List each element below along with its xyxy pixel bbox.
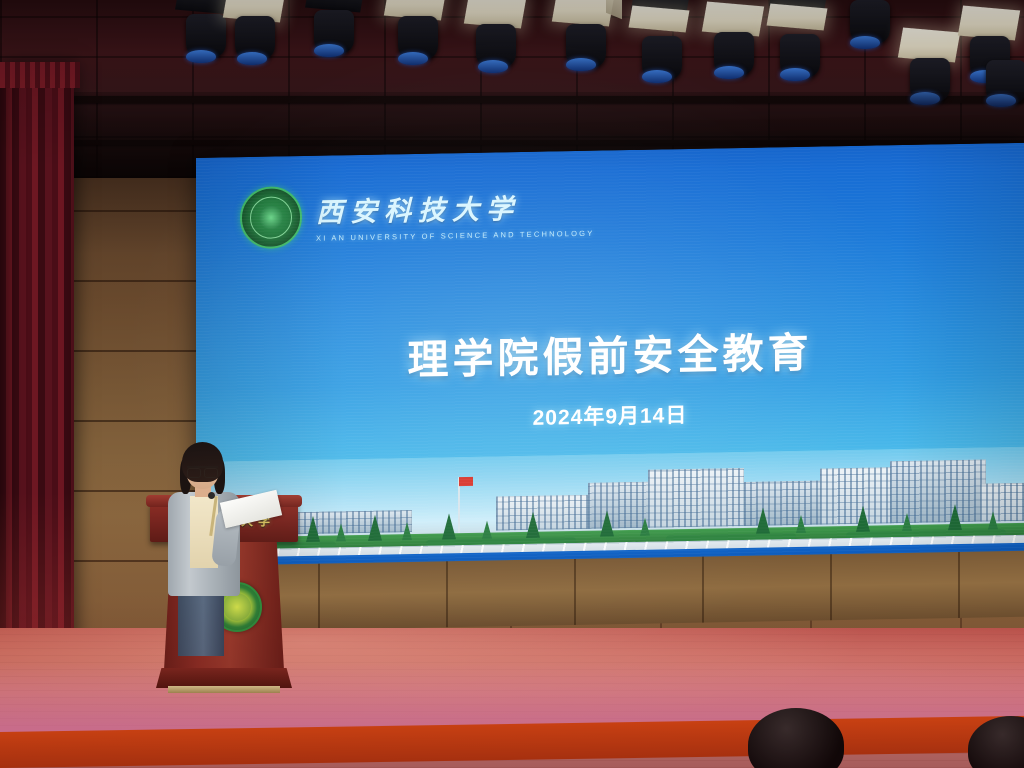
presentation-slide: 西安科技大学 XI AN UNIVERSITY OF SCIENCE AND T… <box>196 143 1024 578</box>
stage-light-accent <box>314 44 344 57</box>
curtain-valance <box>0 62 80 88</box>
stage-light-accent <box>850 36 880 49</box>
stage-light-accent <box>642 70 672 83</box>
led-screen: 西安科技大学 XI AN UNIVERSITY OF SCIENCE AND T… <box>196 143 1024 578</box>
stage-light-accent <box>780 68 810 81</box>
microphone-icon <box>208 492 215 499</box>
stage-light-accent <box>478 60 508 73</box>
stage-light-accent <box>566 58 596 71</box>
podium-foot-trim <box>168 686 280 693</box>
stage-light-accent <box>186 50 216 63</box>
screen-vignette <box>196 143 1024 578</box>
presenter-trousers <box>178 590 224 656</box>
stage-light-accent <box>398 52 428 65</box>
auditorium-stage-photo: 西安科技大学 XI AN UNIVERSITY OF SCIENCE AND T… <box>0 0 1024 768</box>
stage-light-accent <box>714 66 744 79</box>
podium-plinth <box>156 668 292 688</box>
glasses-icon <box>187 466 218 477</box>
presenter <box>160 440 246 655</box>
stage-curtain <box>0 62 74 702</box>
stage-light-accent <box>237 52 267 65</box>
